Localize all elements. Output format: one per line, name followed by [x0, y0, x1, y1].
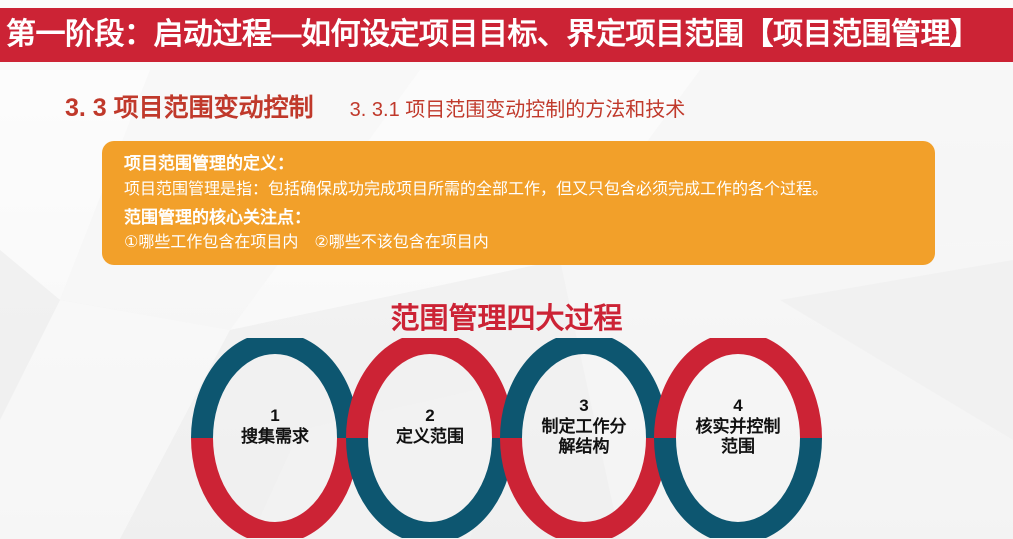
subsection-heading: 3. 3.1 项目范围变动控制的方法和技术 — [350, 93, 686, 122]
definition-title: 项目范围管理的定义： — [124, 153, 935, 176]
slide-banner: 第一阶段：启动过程—如何设定项目目标、界定项目范围【项目范围管理】 — [0, 8, 1013, 62]
definition-body: 项目范围管理是指：包括确保成功完成项目所需的全部工作，但又只包含必须完成工作的各… — [124, 179, 935, 201]
process-rings — [0, 338, 1013, 538]
subheading-row: 3. 3 项目范围变动控制 3. 3.1 项目范围变动控制的方法和技术 — [65, 88, 685, 124]
definition-callout: 项目范围管理的定义： 项目范围管理是指：包括确保成功完成项目所需的全部工作，但又… — [102, 141, 935, 265]
process-title: 范围管理四大过程 — [0, 295, 1013, 337]
focus-title: 范围管理的核心关注点： — [124, 207, 935, 230]
banner-title: 第一阶段：启动过程—如何设定项目目标、界定项目范围【项目范围管理】 — [6, 20, 980, 50]
process-diagram: 1 搜集需求 2 定义范围 3 制定工作分 解结构 4 核实并控制 范围 — [0, 338, 1013, 538]
section-heading: 3. 3 项目范围变动控制 — [65, 88, 314, 124]
focus-body: ①哪些工作包含在项目内 ②哪些不该包含在项目内 — [124, 232, 935, 254]
slide-root: 第一阶段：启动过程—如何设定项目目标、界定项目范围【项目范围管理】 3. 3 项… — [0, 0, 1013, 539]
